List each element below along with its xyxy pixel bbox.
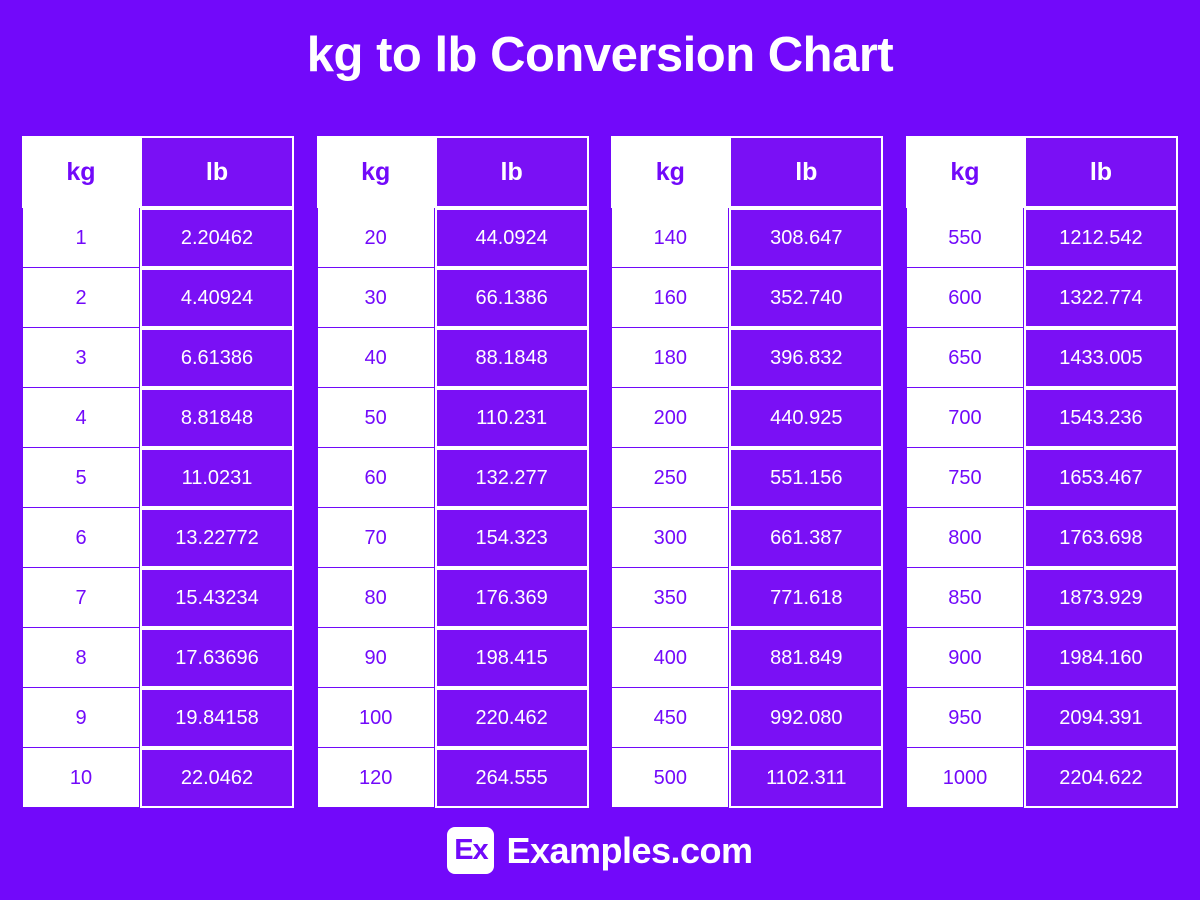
- conversion-table: kglb5501212.5426001322.7746501433.005700…: [906, 136, 1178, 808]
- cell-lb-value: 22.0462: [140, 748, 294, 808]
- table-row: 3066.1386: [317, 268, 589, 328]
- table-row: 10002204.622: [906, 748, 1178, 808]
- table-row: 250551.156: [611, 448, 883, 508]
- cell-lb-value: 176.369: [435, 568, 589, 628]
- cell-kg-value: 1000: [906, 748, 1024, 808]
- cell-lb-value: 1763.698: [1024, 508, 1178, 568]
- cell-lb-value: 1984.160: [1024, 628, 1178, 688]
- cell-kg-value: 10: [22, 748, 140, 808]
- table-row: 50110.231: [317, 388, 589, 448]
- cell-lb-value: 1212.542: [1024, 208, 1178, 268]
- table-row: 1022.0462: [22, 748, 294, 808]
- cell-lb-value: 992.080: [729, 688, 883, 748]
- cell-kg-value: 40: [317, 328, 435, 388]
- cell-kg-value: 50: [317, 388, 435, 448]
- cell-lb-value: 1653.467: [1024, 448, 1178, 508]
- cell-kg-value: 120: [317, 748, 435, 808]
- cell-lb-value: 6.61386: [140, 328, 294, 388]
- cell-kg-value: 200: [611, 388, 729, 448]
- table-row: 12.20462: [22, 208, 294, 268]
- table-row: 9502094.391: [906, 688, 1178, 748]
- cell-kg-value: 100: [317, 688, 435, 748]
- table-row: 200440.925: [611, 388, 883, 448]
- cell-kg-value: 4: [22, 388, 140, 448]
- cell-lb-value: 2.20462: [140, 208, 294, 268]
- cell-kg-value: 180: [611, 328, 729, 388]
- cell-lb-value: 132.277: [435, 448, 589, 508]
- column-header-kg: kg: [906, 136, 1024, 208]
- table-row: 160352.740: [611, 268, 883, 328]
- table-row: 7501653.467: [906, 448, 1178, 508]
- cell-lb-value: 44.0924: [435, 208, 589, 268]
- table-row: 613.22772: [22, 508, 294, 568]
- cell-lb-value: 352.740: [729, 268, 883, 328]
- cell-lb-value: 2204.622: [1024, 748, 1178, 808]
- conversion-table: kglb140308.647160352.740180396.832200440…: [611, 136, 883, 808]
- brand-name: Examples.com: [506, 830, 752, 872]
- column-header-lb: lb: [435, 136, 589, 208]
- cell-kg-value: 9: [22, 688, 140, 748]
- cell-kg-value: 20: [317, 208, 435, 268]
- table-row: 919.84158: [22, 688, 294, 748]
- cell-lb-value: 440.925: [729, 388, 883, 448]
- cell-lb-value: 661.387: [729, 508, 883, 568]
- cell-kg-value: 90: [317, 628, 435, 688]
- cell-lb-value: 4.40924: [140, 268, 294, 328]
- cell-kg-value: 30: [317, 268, 435, 328]
- cell-lb-value: 881.849: [729, 628, 883, 688]
- cell-lb-value: 17.63696: [140, 628, 294, 688]
- cell-kg-value: 450: [611, 688, 729, 748]
- table-row: 817.63696: [22, 628, 294, 688]
- table-row: 180396.832: [611, 328, 883, 388]
- table-header-row: kglb: [611, 136, 883, 208]
- cell-lb-value: 66.1386: [435, 268, 589, 328]
- cell-kg-value: 3: [22, 328, 140, 388]
- cell-kg-value: 5: [22, 448, 140, 508]
- table-row: 511.0231: [22, 448, 294, 508]
- table-row: 70154.323: [317, 508, 589, 568]
- table-row: 5001102.311: [611, 748, 883, 808]
- cell-kg-value: 6: [22, 508, 140, 568]
- table-row: 7001543.236: [906, 388, 1178, 448]
- table-row: 5501212.542: [906, 208, 1178, 268]
- cell-kg-value: 70: [317, 508, 435, 568]
- column-header-kg: kg: [317, 136, 435, 208]
- cell-lb-value: 1433.005: [1024, 328, 1178, 388]
- table-row: 6501433.005: [906, 328, 1178, 388]
- cell-lb-value: 1322.774: [1024, 268, 1178, 328]
- table-header-row: kglb: [317, 136, 589, 208]
- cell-kg-value: 140: [611, 208, 729, 268]
- table-row: 48.81848: [22, 388, 294, 448]
- cell-lb-value: 154.323: [435, 508, 589, 568]
- table-row: 80176.369: [317, 568, 589, 628]
- column-header-lb: lb: [1024, 136, 1178, 208]
- cell-lb-value: 220.462: [435, 688, 589, 748]
- table-row: 715.43234: [22, 568, 294, 628]
- table-row: 36.61386: [22, 328, 294, 388]
- cell-kg-value: 950: [906, 688, 1024, 748]
- cell-kg-value: 500: [611, 748, 729, 808]
- table-row: 9001984.160: [906, 628, 1178, 688]
- cell-kg-value: 850: [906, 568, 1024, 628]
- table-row: 120264.555: [317, 748, 589, 808]
- table-row: 450992.080: [611, 688, 883, 748]
- brand-footer: Ex Examples.com: [0, 827, 1200, 874]
- cell-kg-value: 550: [906, 208, 1024, 268]
- table-row: 90198.415: [317, 628, 589, 688]
- cell-kg-value: 750: [906, 448, 1024, 508]
- table-row: 140308.647: [611, 208, 883, 268]
- table-row: 60132.277: [317, 448, 589, 508]
- column-header-lb: lb: [729, 136, 883, 208]
- table-row: 350771.618: [611, 568, 883, 628]
- table-row: 8001763.698: [906, 508, 1178, 568]
- cell-kg-value: 800: [906, 508, 1024, 568]
- table-row: 6001322.774: [906, 268, 1178, 328]
- column-header-kg: kg: [22, 136, 140, 208]
- conversion-tables-container: kglb12.2046224.4092436.6138648.81848511.…: [22, 136, 1178, 808]
- cell-kg-value: 900: [906, 628, 1024, 688]
- page-title: kg to lb Conversion Chart: [0, 26, 1200, 85]
- cell-lb-value: 551.156: [729, 448, 883, 508]
- table-row: 24.40924: [22, 268, 294, 328]
- table-row: 4088.1848: [317, 328, 589, 388]
- cell-lb-value: 88.1848: [435, 328, 589, 388]
- table-row: 400881.849: [611, 628, 883, 688]
- table-header-row: kglb: [906, 136, 1178, 208]
- conversion-table: kglb12.2046224.4092436.6138648.81848511.…: [22, 136, 294, 808]
- cell-kg-value: 2: [22, 268, 140, 328]
- cell-kg-value: 600: [906, 268, 1024, 328]
- cell-lb-value: 2094.391: [1024, 688, 1178, 748]
- table-row: 100220.462: [317, 688, 589, 748]
- cell-kg-value: 80: [317, 568, 435, 628]
- cell-lb-value: 396.832: [729, 328, 883, 388]
- cell-lb-value: 15.43234: [140, 568, 294, 628]
- cell-kg-value: 350: [611, 568, 729, 628]
- conversion-table: kglb2044.09243066.13864088.184850110.231…: [317, 136, 589, 808]
- cell-kg-value: 250: [611, 448, 729, 508]
- cell-lb-value: 198.415: [435, 628, 589, 688]
- examples-logo-icon: Ex: [447, 827, 494, 874]
- cell-lb-value: 1102.311: [729, 748, 883, 808]
- cell-kg-value: 8: [22, 628, 140, 688]
- cell-lb-value: 771.618: [729, 568, 883, 628]
- table-header-row: kglb: [22, 136, 294, 208]
- cell-lb-value: 8.81848: [140, 388, 294, 448]
- cell-kg-value: 7: [22, 568, 140, 628]
- cell-lb-value: 1873.929: [1024, 568, 1178, 628]
- cell-kg-value: 60: [317, 448, 435, 508]
- cell-kg-value: 300: [611, 508, 729, 568]
- table-row: 2044.0924: [317, 208, 589, 268]
- cell-lb-value: 308.647: [729, 208, 883, 268]
- column-header-lb: lb: [140, 136, 294, 208]
- cell-lb-value: 1543.236: [1024, 388, 1178, 448]
- conversion-chart-page: kg to lb Conversion Chart kglb12.2046224…: [0, 0, 1200, 900]
- cell-kg-value: 650: [906, 328, 1024, 388]
- cell-lb-value: 110.231: [435, 388, 589, 448]
- cell-lb-value: 11.0231: [140, 448, 294, 508]
- cell-kg-value: 700: [906, 388, 1024, 448]
- column-header-kg: kg: [611, 136, 729, 208]
- table-row: 300661.387: [611, 508, 883, 568]
- cell-kg-value: 1: [22, 208, 140, 268]
- cell-lb-value: 264.555: [435, 748, 589, 808]
- cell-kg-value: 160: [611, 268, 729, 328]
- cell-lb-value: 19.84158: [140, 688, 294, 748]
- table-row: 8501873.929: [906, 568, 1178, 628]
- cell-lb-value: 13.22772: [140, 508, 294, 568]
- cell-kg-value: 400: [611, 628, 729, 688]
